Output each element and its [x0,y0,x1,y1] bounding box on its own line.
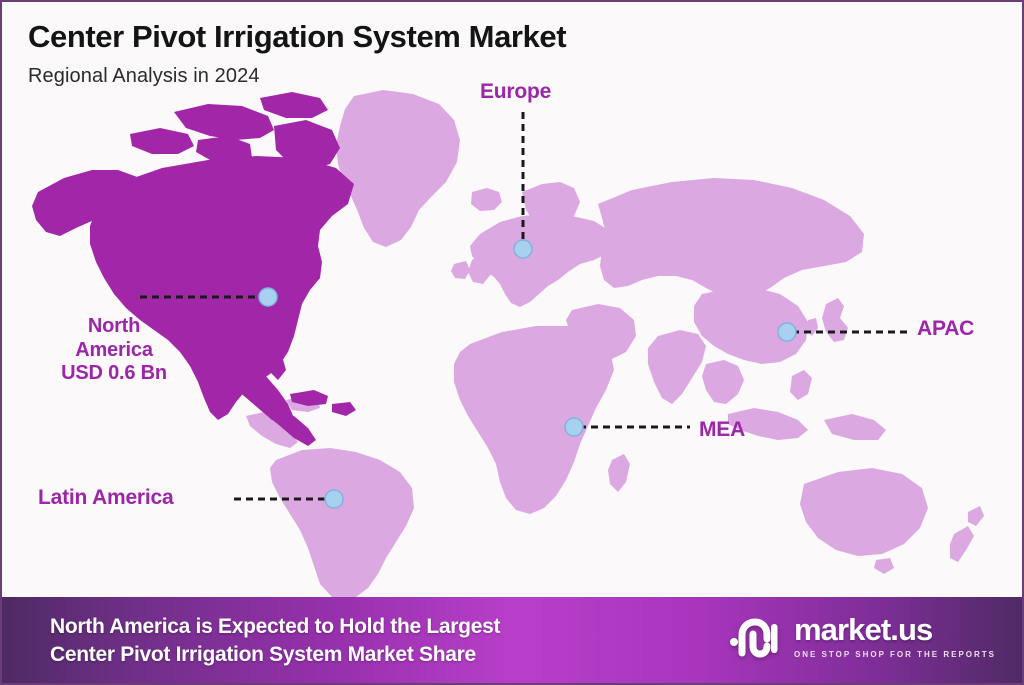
leader-lines [140,112,908,499]
region-label-apac: APAC [917,317,974,342]
footer-headline-line2: Center Pivot Irrigation System Market Sh… [50,641,500,669]
page-title: Center Pivot Irrigation System Market [28,20,566,54]
logo-wordmark: market.us [794,614,932,645]
logo-tagline: ONE STOP SHOP FOR THE REPORTS [794,650,996,659]
footer-headline-line1: North America is Expected to Hold the La… [50,613,500,641]
logo-text-group: market.us ONE STOP SHOP FOR THE REPORTS [794,614,996,659]
marker-apac[interactable] [778,323,796,341]
footer-headline: North America is Expected to Hold the La… [50,613,500,670]
marker-north-america[interactable] [259,288,277,306]
region-label-mea: MEA [699,418,745,443]
infographic-root: Center Pivot Irrigation System Market Re… [0,0,1024,685]
region-label-north-america-line2: America [40,339,188,363]
footer-banner: North America is Expected to Hold the La… [2,597,1024,683]
brand-logo[interactable]: market.us ONE STOP SHOP FOR THE REPORTS [729,614,996,659]
region-markers [259,240,796,508]
region-label-latin-america: Latin America [38,486,174,511]
marker-europe[interactable] [514,240,532,258]
header: Center Pivot Irrigation System Market Re… [28,20,566,88]
region-label-north-america-value: USD 0.6 Bn [40,362,188,386]
page-subtitle: Regional Analysis in 2024 [28,65,566,88]
market-us-logo-icon [729,615,783,659]
region-label-north-america: North America USD 0.6 Bn [40,315,188,386]
marker-mea[interactable] [565,418,583,436]
marker-latin-america[interactable] [325,490,343,508]
region-label-north-america-line1: North [40,315,188,339]
